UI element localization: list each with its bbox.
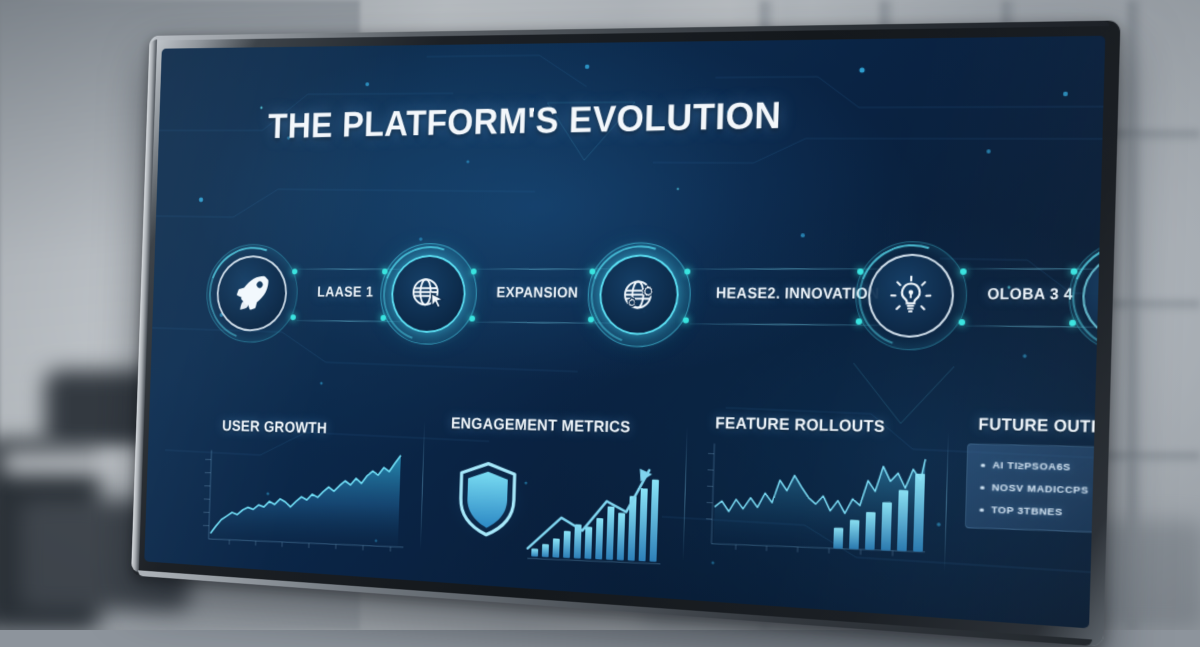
panel-title-future-outlook: FUTURE OUTLOOK — [978, 416, 1105, 439]
list-item-label: AI TI≥PSOA6S — [992, 460, 1071, 474]
bullet-icon — [981, 463, 985, 467]
panel-title-feature-rollouts: FEATURE ROLLOUTS — [715, 415, 885, 437]
list-item-label: TOP 3TBNES — [991, 504, 1063, 518]
engagement-visual — [436, 443, 672, 573]
page-title: THE PLATFORM'S EVOLUTION — [267, 94, 782, 146]
timeline-label-1: LAASE 1 — [317, 284, 374, 301]
panel-feature-rollouts[interactable]: FEATURE ROLLOUTS — [698, 413, 940, 604]
monitor: THE PLATFORM'S EVOLUTION — [131, 21, 1120, 647]
globe-cursor-icon — [405, 271, 451, 318]
timeline-node-innovation[interactable] — [586, 242, 692, 348]
panel-divider — [420, 421, 425, 550]
timeline-label-4: OLOBA 3 4 — [987, 285, 1073, 303]
timeline-node-phase-1[interactable] — [205, 244, 299, 343]
future-outlook-list: AI TI≥PSOA6S NOSV MADICCPS TOP 3TBNES — [979, 454, 1089, 525]
panel-user-growth[interactable]: USER GROWTH — [180, 402, 419, 578]
timeline-node-expansion[interactable] — [379, 243, 479, 345]
list-item-label: NOSV MADICCPS — [992, 482, 1089, 497]
feature-rollouts-chart — [695, 439, 935, 573]
list-item[interactable]: TOP 3TBNES — [979, 499, 1088, 525]
panel-title-user-growth: USER GROWTH — [222, 418, 328, 438]
bullet-icon — [980, 486, 984, 490]
user-growth-chart — [186, 444, 412, 563]
monitor-screen: THE PLATFORM'S EVOLUTION — [144, 36, 1105, 629]
panel-future-outlook[interactable]: FUTURE OUTLOOK AI TI≥PSOA6S NOSV MADICCP… — [963, 418, 1106, 615]
bullet-icon — [979, 508, 983, 512]
timeline-connector — [691, 268, 881, 269]
panel-engagement-metrics[interactable]: ENGAGEMENT METRICS — [436, 407, 679, 591]
rocket-icon — [230, 271, 274, 317]
list-item[interactable]: AI TI≥PSOA6S — [980, 454, 1089, 479]
globe-gear-icon — [614, 271, 663, 319]
timeline-label-2: EXPANSION — [496, 284, 578, 301]
evolution-timeline: LAASE 1 EXPA — [204, 240, 1082, 390]
panel-divider — [683, 427, 688, 561]
lightbulb-icon — [885, 272, 936, 320]
panel-divider — [944, 432, 949, 572]
timeline-node-idea[interactable] — [854, 241, 969, 351]
timeline-connector — [690, 323, 880, 326]
future-outlook-card: AI TI≥PSOA6S NOSV MADICCPS TOP 3TBNES — [965, 443, 1106, 534]
panel-title-engagement: ENGAGEMENT METRICS — [451, 416, 631, 438]
